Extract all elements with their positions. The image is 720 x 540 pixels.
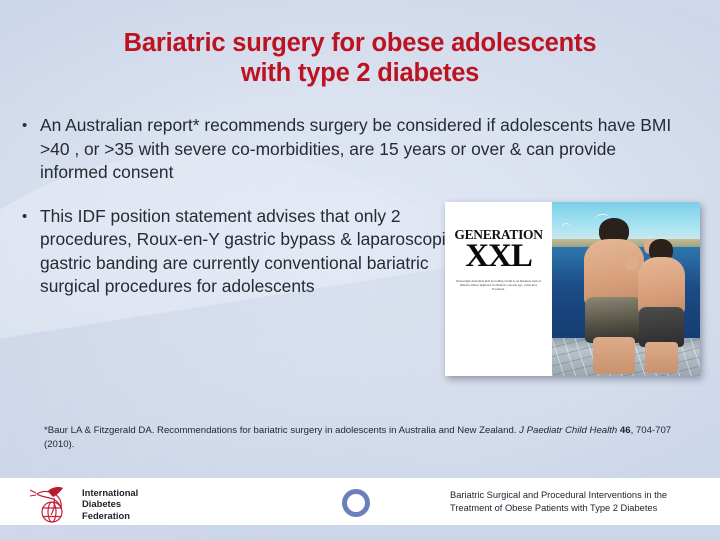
bullet-item-2: • This IDF position statement advises th…	[18, 205, 470, 299]
figure-arm	[624, 256, 639, 271]
footnote-citation: *Baur LA & Fitzgerald DA. Recommendation…	[44, 424, 684, 452]
figure-legs	[593, 337, 635, 374]
magazine-headline-bottom: XXL	[451, 240, 546, 272]
magazine-spread-image: GENERATION XXL Overweight Australian kid…	[445, 202, 700, 376]
magazine-photo	[552, 202, 700, 376]
slide-title-line-2: with type 2 diabetes	[40, 58, 680, 88]
bullet-marker-icon: •	[18, 114, 40, 138]
slide-canvas: Bariatric surgery for obese adolescents …	[0, 0, 720, 540]
idf-wordmark-line-1: International	[82, 487, 138, 498]
footnote-part-1: *Baur LA & Fitzgerald DA. Recommendation…	[44, 425, 519, 436]
magazine-left-page: GENERATION XXL Overweight Australian kid…	[445, 202, 552, 376]
idf-wordmark-line-3: Federation	[82, 510, 138, 521]
bullet-text-1: An Australian report* recommends surgery…	[40, 114, 688, 185]
idf-logo-wordmark: International Diabetes Federation	[82, 487, 138, 521]
slide-title-line-1: Bariatric surgery for obese adolescents	[40, 28, 680, 58]
photo-figure-smaller-boy	[636, 239, 686, 371]
footer-caption: Bariatric Surgical and Procedural Interv…	[450, 489, 705, 514]
blue-circle-diabetes-symbol-icon	[342, 489, 370, 517]
footnote-journal: J Paediatr Child Health	[519, 425, 617, 436]
magazine-subtext: Overweight Australian kids are falling v…	[451, 279, 546, 291]
footer-caption-line-1: Bariatric Surgical and Procedural Interv…	[450, 489, 705, 502]
slide-title: Bariatric surgery for obese adolescents …	[40, 28, 680, 88]
bullet-item-1: • An Australian report* recommends surge…	[18, 114, 688, 185]
idf-hummingbird-globe-icon	[27, 484, 77, 524]
idf-logo: International Diabetes Federation	[27, 484, 177, 524]
footnote-volume: 46	[617, 425, 630, 436]
figure-legs	[645, 342, 677, 374]
idf-wordmark-line-2: Diabetes	[82, 498, 138, 509]
bullet-text-2: This IDF position statement advises that…	[40, 205, 470, 299]
footer-caption-line-2: Treatment of Obese Patients with Type 2 …	[450, 502, 705, 515]
bullet-marker-icon: •	[18, 205, 40, 229]
